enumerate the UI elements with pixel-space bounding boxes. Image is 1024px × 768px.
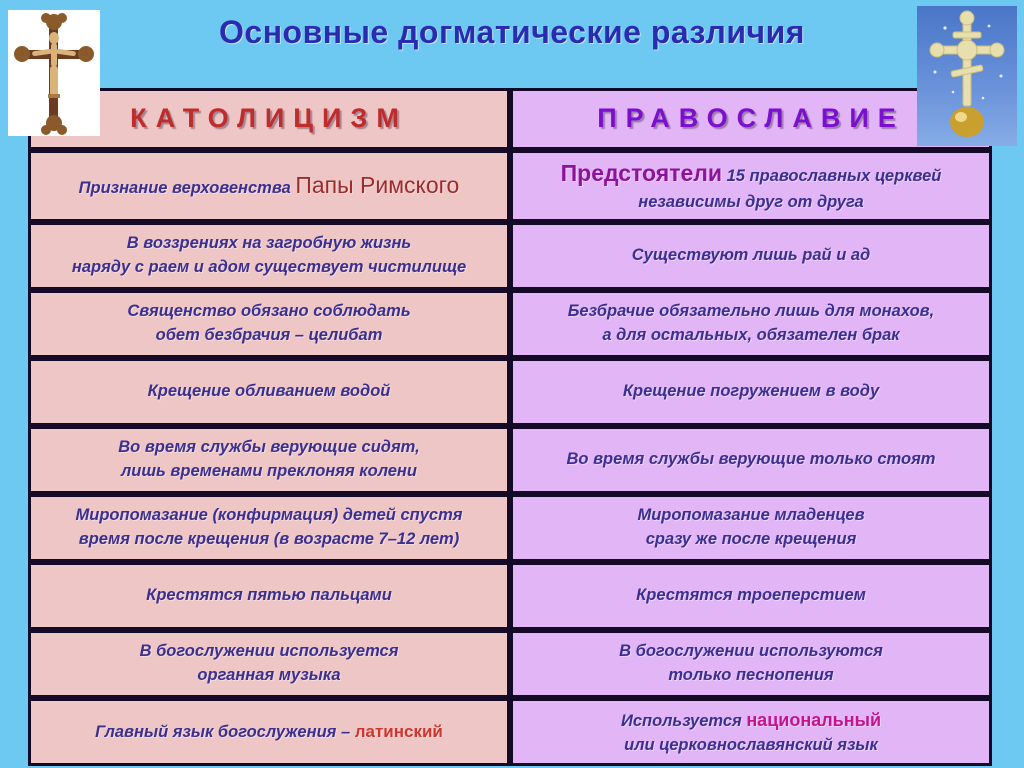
- table-row: Во время службы верующие сидят, лишь вре…: [28, 426, 992, 494]
- cell-orthodox-5: Во время службы верующие только стоят: [510, 426, 992, 494]
- cell-orthodox-8: В богослужении используются только песно…: [510, 630, 992, 698]
- cell-catholic-4: Крещение обливанием водой: [28, 358, 510, 426]
- cell-orthodox-6-line-1: Миропомазание младенцев: [521, 504, 981, 528]
- cell-orthodox-1-text: 15 православных церквей: [722, 167, 941, 185]
- cell-orthodox-6-line-2: сразу же после крещения: [521, 528, 981, 552]
- cell-catholic-1-line: Признание верховенства Папы Римского: [39, 169, 499, 202]
- comparison-table: КАТОЛИЦИЗМ ПРАВОСЛАВИЕ Признание верхове…: [28, 88, 992, 766]
- cell-catholic-9: Главный язык богослужения – латинский: [28, 698, 510, 766]
- cell-catholic-8-line-2: органная музыка: [39, 664, 499, 688]
- cell-orthodox-1-emphasis: Предстоятели: [561, 160, 722, 186]
- cell-orthodox-4-line-1: Крещение погружением в воду: [521, 380, 981, 404]
- cell-orthodox-9: Используется национальный или церковносл…: [510, 698, 992, 766]
- column-header-catholicism-label: КАТОЛИЦИЗМ: [130, 103, 408, 133]
- cell-orthodox-9-text: Используется: [621, 712, 746, 730]
- cell-orthodox-2: Существуют лишь рай и ад: [510, 222, 992, 290]
- column-header-catholicism: КАТОЛИЦИЗМ: [28, 88, 510, 150]
- table-body: Признание верховенства Папы Римского Пре…: [28, 150, 992, 766]
- table-row: Главный язык богослужения – латинский Ис…: [28, 698, 992, 766]
- cell-catholic-1: Признание верховенства Папы Римского: [28, 150, 510, 222]
- comparison-table-wrapper: КАТОЛИЦИЗМ ПРАВОСЛАВИЕ Признание верхове…: [28, 88, 980, 768]
- table-row: В воззрениях на загробную жизнь наряду с…: [28, 222, 992, 290]
- table-row: Крестятся пятью пальцами Крестятся троеп…: [28, 562, 992, 630]
- slide-root: Основные догматические различия: [0, 0, 1024, 768]
- cell-orthodox-8-line-1: В богослужении используются: [521, 640, 981, 664]
- cell-catholic-8-line-1: В богослужении используется: [39, 640, 499, 664]
- title-band: Основные догматические различия: [0, 0, 1024, 88]
- cell-orthodox-1-line-2: независимы друг от друга: [521, 191, 981, 215]
- page-title: Основные догматические различия: [0, 14, 1024, 51]
- cell-catholic-2: В воззрениях на загробную жизнь наряду с…: [28, 222, 510, 290]
- cell-orthodox-9-line-1: Используется национальный: [521, 707, 981, 734]
- cell-catholic-5-line-2: лишь временами преклоняя колени: [39, 460, 499, 484]
- cell-catholic-2-line-1: В воззрениях на загробную жизнь: [39, 232, 499, 256]
- cell-catholic-7: Крестятся пятью пальцами: [28, 562, 510, 630]
- cell-catholic-6-line-1: Миропомазание (конфирмация) детей спустя: [39, 504, 499, 528]
- cell-orthodox-7: Крестятся троеперстием: [510, 562, 992, 630]
- cell-catholic-9-emphasis: латинский: [355, 722, 443, 741]
- cell-catholic-8: В богослужении используется органная муз…: [28, 630, 510, 698]
- cell-catholic-9-line: Главный язык богослужения – латинский: [39, 720, 499, 745]
- cell-orthodox-3-line-1: Безбрачие обязательно лишь для монахов,: [521, 300, 981, 324]
- cell-catholic-9-text: Главный язык богослужения –: [95, 723, 355, 741]
- table-row: В богослужении используется органная муз…: [28, 630, 992, 698]
- table-row: Священство обязано соблюдать обет безбра…: [28, 290, 992, 358]
- table-header-row: КАТОЛИЦИЗМ ПРАВОСЛАВИЕ: [28, 88, 992, 150]
- cell-orthodox-5-line-1: Во время службы верующие только стоят: [521, 448, 981, 472]
- cell-orthodox-3: Безбрачие обязательно лишь для монахов, …: [510, 290, 992, 358]
- cell-catholic-1-emphasis: Папы Римского: [295, 172, 459, 198]
- crucifix-icon: [8, 10, 100, 136]
- table-row: Признание верховенства Папы Римского Пре…: [28, 150, 992, 222]
- cell-orthodox-7-line-1: Крестятся троеперстием: [521, 584, 981, 608]
- table-row: Миропомазание (конфирмация) детей спустя…: [28, 494, 992, 562]
- cell-orthodox-1: Предстоятели 15 православных церквей нез…: [510, 150, 992, 222]
- cell-catholic-5: Во время службы верующие сидят, лишь вре…: [28, 426, 510, 494]
- table-row: Крещение обливанием водой Крещение погру…: [28, 358, 992, 426]
- cell-catholic-3-line-1: Священство обязано соблюдать: [39, 300, 499, 324]
- cell-orthodox-8-line-2: только песнопения: [521, 664, 981, 688]
- cell-catholic-3: Священство обязано соблюдать обет безбра…: [28, 290, 510, 358]
- cell-catholic-3-line-2: обет безбрачия – целибат: [39, 324, 499, 348]
- cell-catholic-1-text: Признание верховенства: [79, 179, 296, 197]
- cell-orthodox-2-line-1: Существуют лишь рай и ад: [521, 244, 981, 268]
- cell-catholic-6: Миропомазание (конфирмация) детей спустя…: [28, 494, 510, 562]
- cell-catholic-4-line-1: Крещение обливанием водой: [39, 380, 499, 404]
- cell-catholic-2-line-2: наряду с раем и адом существует чистилищ…: [39, 256, 499, 280]
- cell-catholic-7-line-1: Крестятся пятью пальцами: [39, 584, 499, 608]
- cell-orthodox-9-emphasis: национальный: [746, 710, 881, 730]
- column-header-orthodoxy-label: ПРАВОСЛАВИЕ: [597, 103, 905, 133]
- cell-orthodox-3-line-2: а для остальных, обязателен брак: [521, 324, 981, 348]
- cell-catholic-6-line-2: время после крещения (в возрасте 7–12 ле…: [39, 528, 499, 552]
- cell-orthodox-9-line-2: или церковнославянский язык: [521, 734, 981, 758]
- orthodox-cross-icon: [917, 6, 1017, 146]
- cell-catholic-5-line-1: Во время службы верующие сидят,: [39, 436, 499, 460]
- cell-orthodox-6: Миропомазание младенцев сразу же после к…: [510, 494, 992, 562]
- cell-orthodox-1-line-1: Предстоятели 15 православных церквей: [521, 157, 981, 190]
- cell-orthodox-4: Крещение погружением в воду: [510, 358, 992, 426]
